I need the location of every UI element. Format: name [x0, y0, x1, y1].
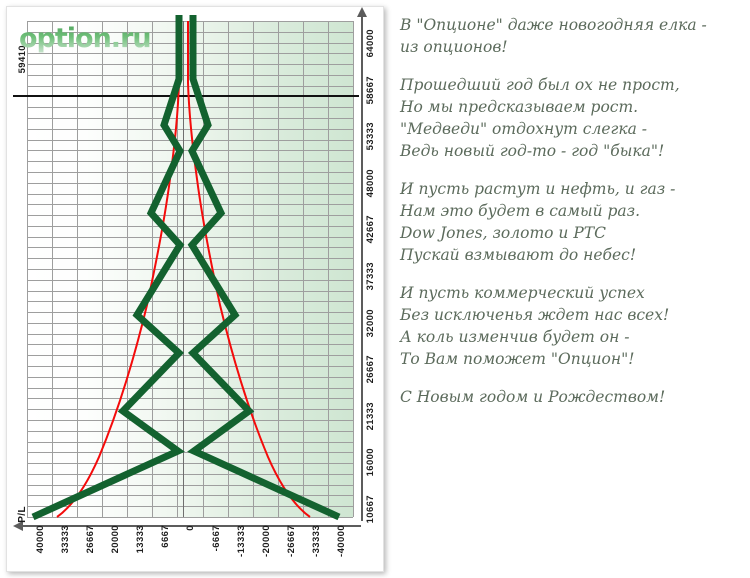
- y-axis-line: [361, 15, 363, 521]
- poem-line: из опционов!: [400, 36, 745, 58]
- poem-stanzas: В "Опционе" даже новогодняя елка -из опц…: [400, 14, 745, 370]
- poem-stanza: И пусть коммерческий успехБез исключенья…: [400, 282, 745, 370]
- poem-line: Без исключенья ждет нас всех!: [400, 304, 745, 326]
- y-axis-tick: 21333: [365, 402, 376, 430]
- y-axis-tick: 10667: [365, 495, 376, 523]
- x-axis-tick: 13333: [135, 525, 146, 553]
- payoff-chart-panel: 6400058667533334800042667373333200026667…: [6, 6, 384, 572]
- poem-line: Пускай взмывают до небес!: [400, 244, 745, 266]
- y-axis-tick: 53333: [365, 122, 376, 150]
- x-axis-tick: -13333: [236, 525, 247, 557]
- x-axis-tick: -20000: [261, 525, 272, 557]
- y-axis-tick: 42667: [365, 215, 376, 243]
- x-axis-tick: 33333: [60, 525, 71, 553]
- poem-line: Dow Jones, золото и РТС: [400, 222, 745, 244]
- poem-closing-line: С Новым годом и Рождеством!: [400, 386, 745, 408]
- y-axis-tick: 37333: [365, 262, 376, 290]
- payoff-curves: [27, 21, 353, 517]
- pl-axis-label: P/L: [17, 506, 28, 523]
- plot-wrapper: 6400058667533334800042667373333200026667…: [27, 21, 359, 521]
- poem-stanza: В "Опционе" даже новогодняя елка -из опц…: [400, 14, 745, 58]
- plot-area: [27, 21, 353, 517]
- poem-stanza: И пусть растут и нефть, и газ -Нам это б…: [400, 178, 745, 266]
- x-axis-tick: 40000: [35, 525, 46, 553]
- x-axis-tick: -40000: [336, 525, 347, 557]
- x-axis-tick: 20000: [110, 525, 121, 553]
- x-axis-tick: 6667: [160, 525, 171, 548]
- poem-line: Прошедший год был ох не прост,: [400, 74, 745, 96]
- option-ru-logo: option.ru: [19, 23, 151, 54]
- x-axis-tick: -26667: [286, 525, 297, 557]
- x-axis-tick: 26667: [85, 525, 96, 553]
- y-axis-tick: 16000: [365, 448, 376, 476]
- poem-line: "Медведи" отдохнут слегка -: [400, 118, 745, 140]
- poem-line: И пусть коммерческий успех: [400, 282, 745, 304]
- poem-line: В "Опционе" даже новогодняя елка -: [400, 14, 745, 36]
- payoff-line-left: [33, 15, 180, 517]
- poem-line: Ведь новый год-то - год "быка"!: [400, 140, 745, 162]
- x-axis-tick: -6667: [211, 525, 222, 551]
- x-axis-tick: 0: [185, 525, 196, 531]
- y-axis-tick: 26667: [365, 355, 376, 383]
- y-axis-arrow-icon: [357, 7, 367, 17]
- payoff-line-right: [192, 15, 339, 517]
- poem-line: То Вам поможет "Опцион"!: [400, 348, 745, 370]
- poem-line: Но мы предсказываем рост.: [400, 96, 745, 118]
- y-axis-tick: 32000: [365, 309, 376, 337]
- poem-line: А коль изменчив будет он -: [400, 326, 745, 348]
- poem-line: И пусть растут и нефть, и газ -: [400, 178, 745, 200]
- x-axis-tick: -33333: [311, 525, 322, 557]
- poem-stanza: Прошедший год был ох не прост,Но мы пред…: [400, 74, 745, 162]
- y-axis-tick: 64000: [365, 29, 376, 57]
- y-axis-tick: 48000: [365, 169, 376, 197]
- grid-line-horizontal: [27, 517, 353, 518]
- poem-line: Нам это будет в самый раз.: [400, 200, 745, 222]
- greeting-poem: В "Опционе" даже новогодняя елка -из опц…: [400, 14, 745, 564]
- y-axis-tick: 58667: [365, 76, 376, 104]
